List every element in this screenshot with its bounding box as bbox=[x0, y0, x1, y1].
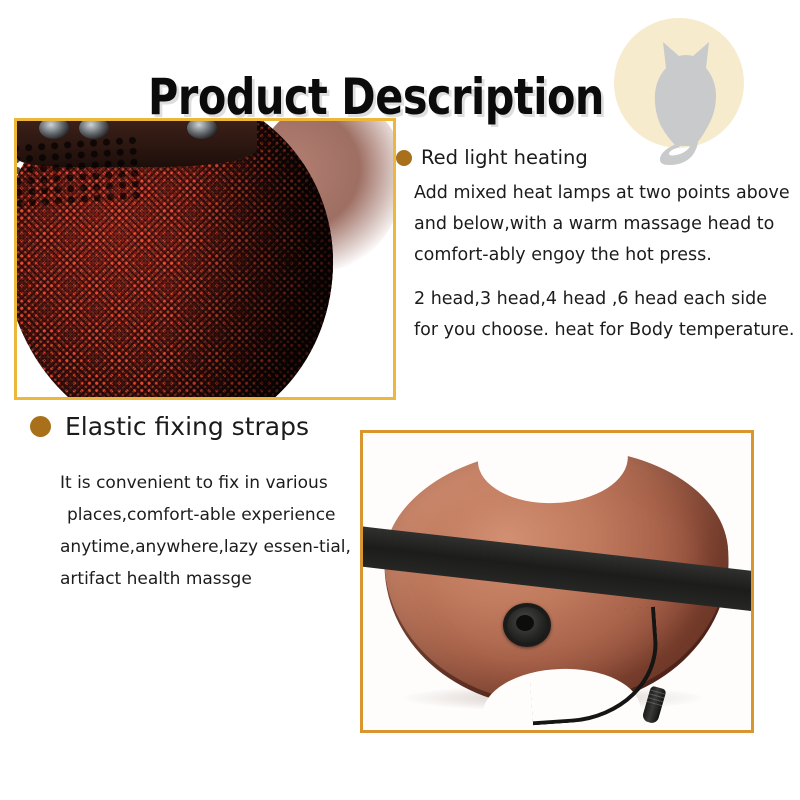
section-red-light-heating: Red light heating Add mixed heat lamps a… bbox=[396, 146, 788, 346]
pillow-photo-inner bbox=[363, 433, 751, 730]
section-heading-row: Elastic fixing straps bbox=[30, 412, 370, 441]
section-paragraph: Add mixed heat lamps at two points above… bbox=[414, 178, 788, 271]
body-line: comfort-ably engoy the hot press. bbox=[414, 240, 788, 271]
section-heading-row: Red light heating bbox=[396, 146, 788, 169]
page-title: Product Description bbox=[148, 68, 604, 126]
mesh-photo-inner bbox=[17, 121, 393, 397]
section-paragraph: It is convenient to fix in various place… bbox=[60, 467, 370, 595]
mesh-coarse-perforation bbox=[17, 135, 141, 210]
roller-head-icon bbox=[187, 121, 217, 139]
roller-head-icon bbox=[39, 121, 69, 139]
body-line: for you choose. heat for Body temperatur… bbox=[414, 315, 788, 346]
bullet-point-icon bbox=[30, 416, 51, 437]
body-line: 2 head,3 head,4 head ,6 head each side bbox=[414, 284, 788, 315]
body-line: anytime,anywhere,lazy essen-tial, bbox=[60, 531, 370, 563]
body-line: places,comfort-able experience bbox=[60, 499, 370, 531]
pillow-photo-canvas bbox=[363, 433, 751, 730]
section-heading-label: Elastic fixing straps bbox=[65, 412, 309, 441]
section-elastic-fixing-straps: Elastic fixing straps It is convenient t… bbox=[30, 412, 370, 595]
body-line: and below,with a warm massage head to bbox=[414, 209, 788, 240]
section-paragraph: 2 head,3 head,4 head ,6 head each side f… bbox=[414, 284, 788, 346]
body-line: Add mixed heat lamps at two points above bbox=[414, 178, 788, 209]
red-mesh-massage-head-photo bbox=[14, 118, 396, 400]
section-heading-label: Red light heating bbox=[421, 146, 588, 169]
bronze-massage-pillow-photo bbox=[360, 430, 754, 733]
bullet-point-icon bbox=[396, 150, 412, 166]
body-line: artifact health massge bbox=[60, 563, 370, 595]
mesh-photo-canvas bbox=[17, 121, 393, 397]
body-line: It is convenient to fix in various bbox=[60, 467, 370, 499]
brand-badge bbox=[614, 18, 744, 148]
